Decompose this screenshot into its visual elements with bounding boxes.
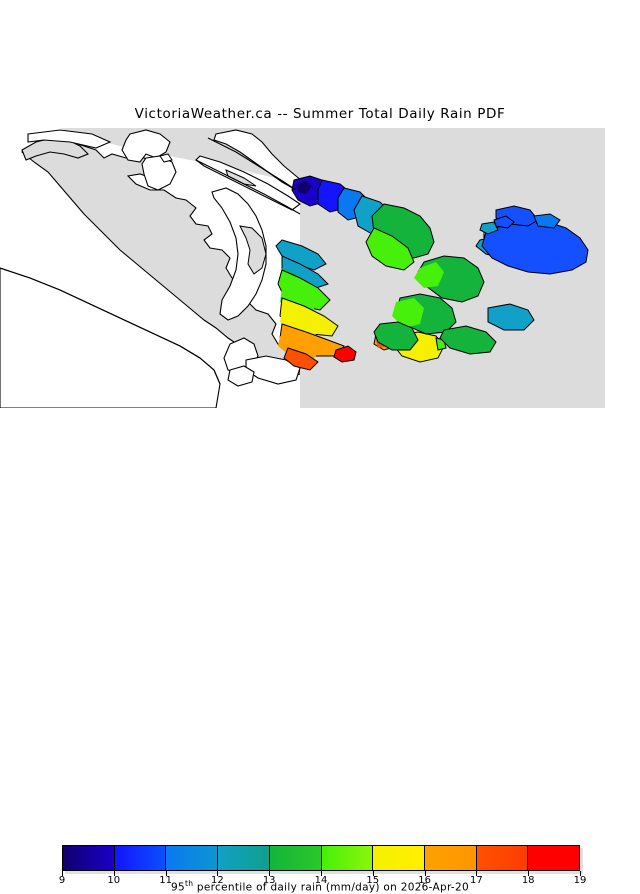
coastline-map[interactable] bbox=[0, 128, 640, 408]
colorbar-segment-16-17[interactable] bbox=[425, 846, 477, 870]
colorbar-segment-18-19[interactable] bbox=[528, 846, 579, 870]
colorbar-segment-15-16[interactable] bbox=[373, 846, 425, 870]
weather-map-figure: VictoriaWeather.ca -- Summer Total Daily… bbox=[0, 0, 640, 480]
colorbar-segment-14-15[interactable] bbox=[322, 846, 374, 870]
page-title: VictoriaWeather.ca -- Summer Total Daily… bbox=[0, 106, 640, 122]
colorbar-segment-11-12[interactable] bbox=[166, 846, 218, 870]
colorbar-segment-13-14[interactable] bbox=[270, 846, 322, 870]
caption-superscript: th bbox=[185, 879, 193, 888]
upper-left-island-2 bbox=[142, 156, 176, 190]
colorbar-segment-12-13[interactable] bbox=[218, 846, 270, 870]
map-panel[interactable] bbox=[0, 128, 640, 408]
colorbar-caption: 95th percentile of daily rain (mm/day) o… bbox=[0, 879, 640, 894]
colorbar[interactable] bbox=[62, 845, 580, 871]
colorbar-segment-9-10[interactable] bbox=[63, 846, 115, 870]
colorbar-segment-17-18[interactable] bbox=[477, 846, 529, 870]
colorbar-group: 910111213141516171819 95th percentile of… bbox=[0, 420, 640, 480]
colorbar-segment-10-11[interactable] bbox=[115, 846, 167, 870]
